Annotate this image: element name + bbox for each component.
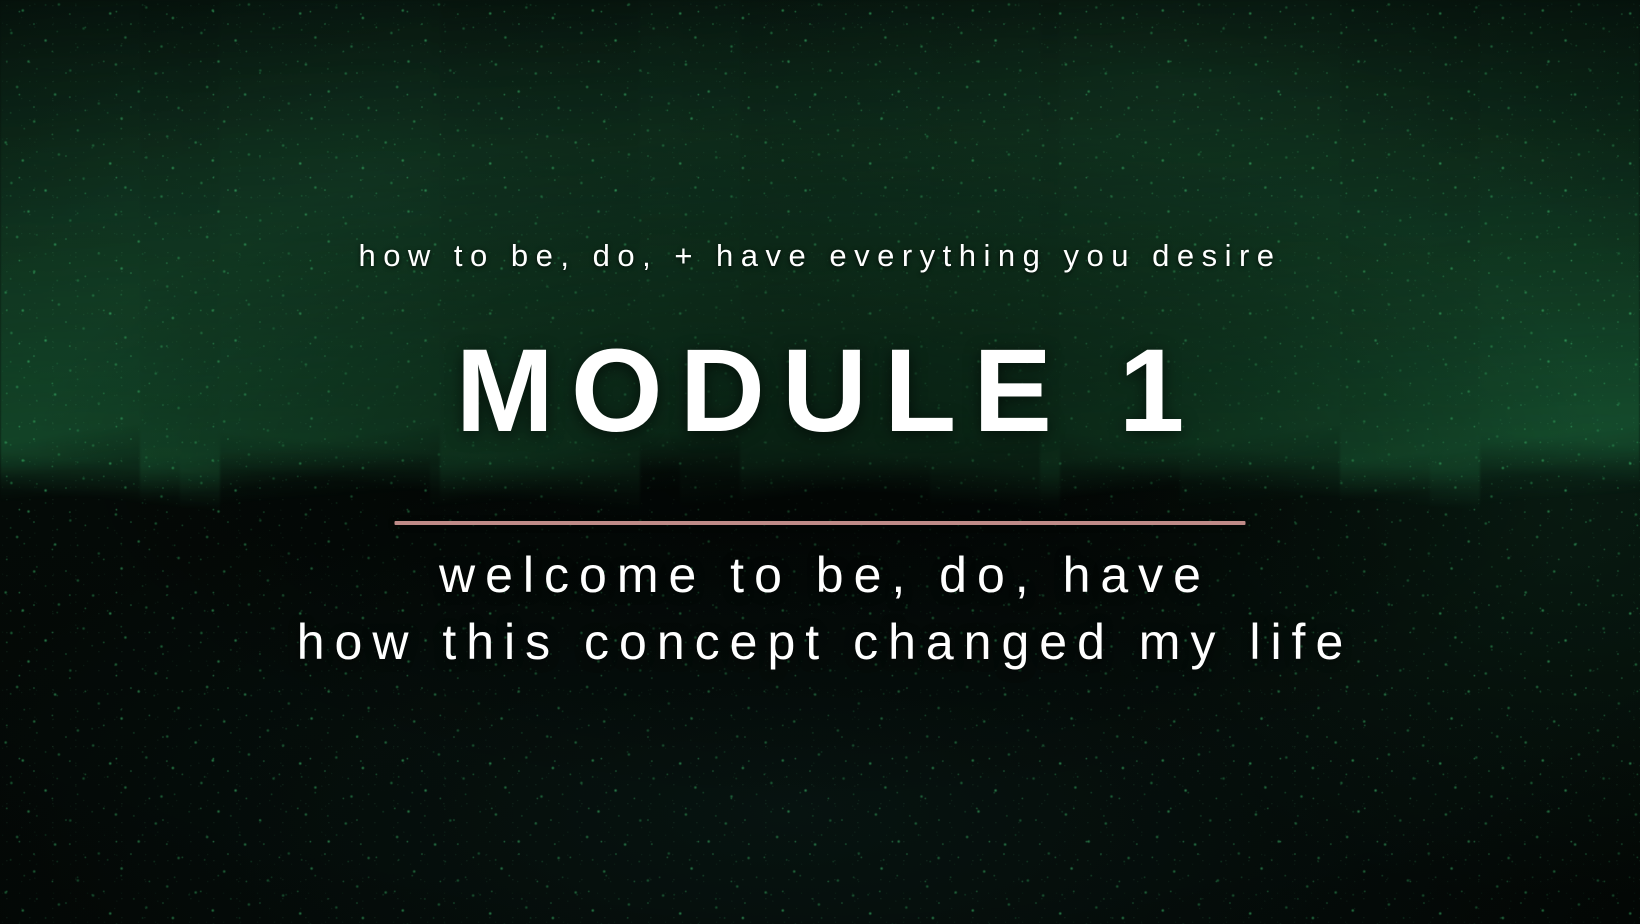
slide-title: MODULE 1: [0, 330, 1640, 454]
slide-subtitle-line-1: welcome to be, do, have: [0, 546, 1640, 604]
module-title-slide: how to be, do, + have everything you des…: [0, 0, 1640, 924]
slide-tagline: how to be, do, + have everything you des…: [0, 238, 1640, 274]
slide-subtitle-line-2: how this concept changed my life: [0, 613, 1640, 671]
slide-content: how to be, do, + have everything you des…: [0, 0, 1640, 924]
title-divider-rule: [395, 521, 1246, 525]
